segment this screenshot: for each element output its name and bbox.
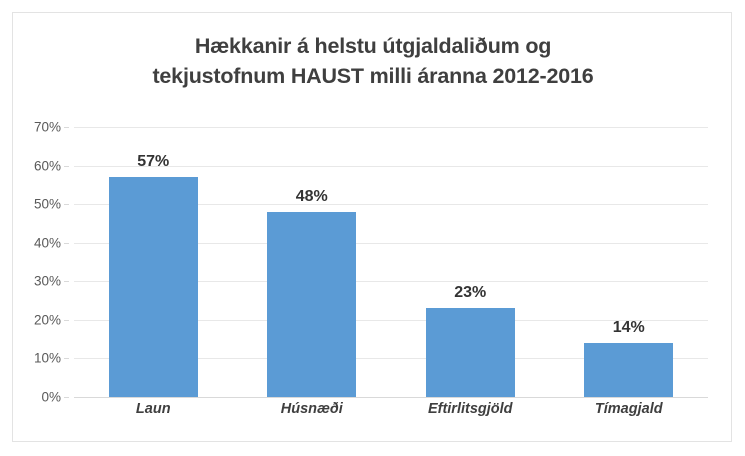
x-axis-category-label: Eftirlitsgjöld [391,401,550,417]
bar-slot: 14% [584,127,673,397]
y-axis-tick-mark [64,127,69,128]
y-axis-tick-label: 50% [34,197,61,212]
y-axis-tick-label: 0% [41,390,61,405]
y-axis-tick-mark [64,204,69,205]
bar[interactable] [109,177,198,397]
bar[interactable] [584,343,673,397]
y-axis-tick-mark [64,397,69,398]
y-axis-tick-label: 40% [34,235,61,250]
x-axis-category-label: Tímagjald [550,401,709,417]
y-axis-tick-label: 70% [34,120,61,135]
bar-value-label: 23% [426,284,515,302]
plot-area: 57%48%23%14% [74,127,708,397]
y-axis-tick-mark [64,243,69,244]
y-axis-tick-label: 20% [34,312,61,327]
y-axis-tick-mark [64,358,69,359]
y-axis-tick-mark [64,320,69,321]
y-axis-tick-label: 60% [34,158,61,173]
bar[interactable] [426,308,515,397]
bar-slot: 23% [426,127,515,397]
bar-slot: 57% [109,127,198,397]
bar-slot: 48% [267,127,356,397]
x-axis: LaunHúsnæðiEftirlitsgjöldTímagjald [74,401,708,431]
chart-title: Hækkanir á helstu útgjaldaliðum og tekju… [13,31,733,91]
x-axis-category-label: Húsnæði [233,401,392,417]
y-axis-tick-mark [64,166,69,167]
bar-value-label: 14% [584,319,673,337]
y-axis-tick-mark [64,281,69,282]
x-axis-category-label: Laun [74,401,233,417]
y-axis-tick-label: 30% [34,274,61,289]
y-axis: 70%60%50%40%30%20%10%0% [13,127,69,397]
gridline-0% [74,397,708,398]
chart-title-line-2: tekjustofnum HAUST milli áranna 2012-201… [13,61,733,91]
bar[interactable] [267,212,356,397]
bar-value-label: 57% [109,153,198,171]
chart-frame: Hækkanir á helstu útgjaldaliðum og tekju… [12,12,732,442]
y-axis-tick-label: 10% [34,351,61,366]
chart-title-line-1: Hækkanir á helstu útgjaldaliðum og [13,31,733,61]
bar-value-label: 48% [267,188,356,206]
